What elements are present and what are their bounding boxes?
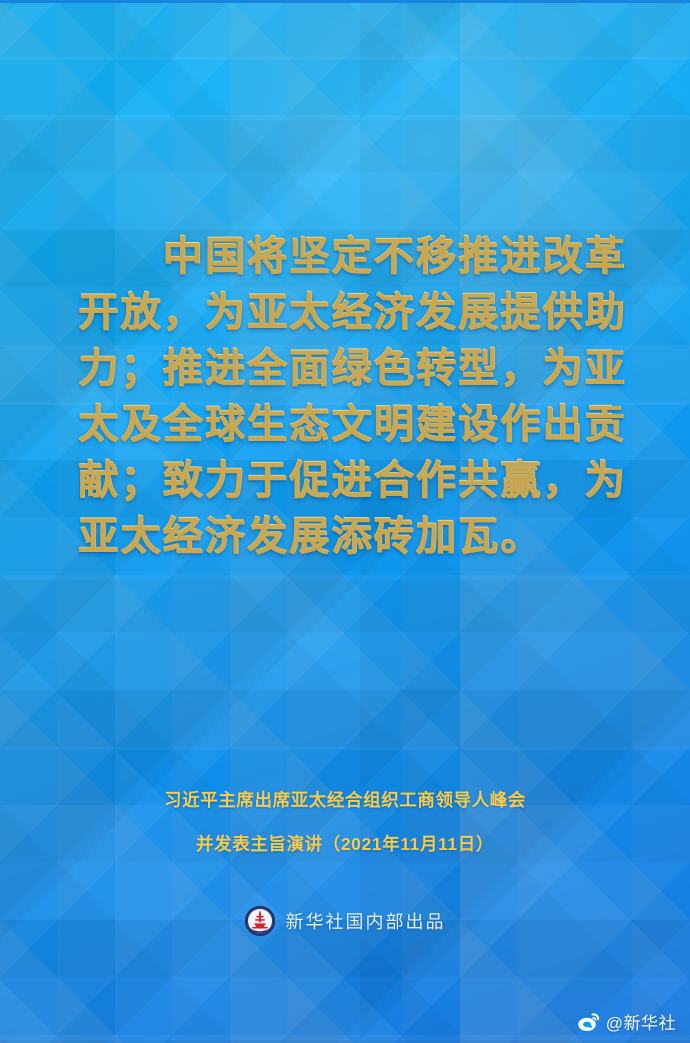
caption-line-event: 习近平主席出席亚太经合组织工商领导人峰会 (0, 778, 690, 822)
quote-line: 亚太经济发展添砖加瓦。 (78, 508, 612, 564)
credit-text: 新华社国内部出品 (286, 908, 446, 934)
credit-row: 新华社国内部出品 (0, 906, 690, 936)
quote-block: 中国将坚定不移推进改革 开放，为亚太经济发展提供助 力；推进全面绿色转型，为亚 … (78, 228, 612, 564)
weibo-icon (577, 1012, 601, 1032)
xinhua-emblem-icon (245, 906, 275, 936)
caption-block: 习近平主席出席亚太经合组织工商领导人峰会 并发表主旨演讲（2021年11月11日… (0, 778, 690, 866)
quote-line: 力；推进全面绿色转型，为亚 (78, 340, 612, 396)
weibo-handle: @新华社 (606, 1009, 676, 1034)
quote-line: 献；致力于促进合作共赢，为 (78, 452, 612, 508)
top-edge-strip (0, 0, 690, 3)
weibo-watermark: @新华社 (577, 1009, 676, 1034)
quote-line: 开放，为亚太经济发展提供助 (78, 284, 612, 340)
quote-line: 太及全球生态文明建设作出贡 (78, 396, 612, 452)
poster-canvas: 中国将坚定不移推进改革 开放，为亚太经济发展提供助 力；推进全面绿色转型，为亚 … (0, 0, 690, 1043)
caption-line-speech-date: 并发表主旨演讲（2021年11月11日） (0, 822, 690, 866)
quote-line: 中国将坚定不移推进改革 (78, 228, 612, 284)
